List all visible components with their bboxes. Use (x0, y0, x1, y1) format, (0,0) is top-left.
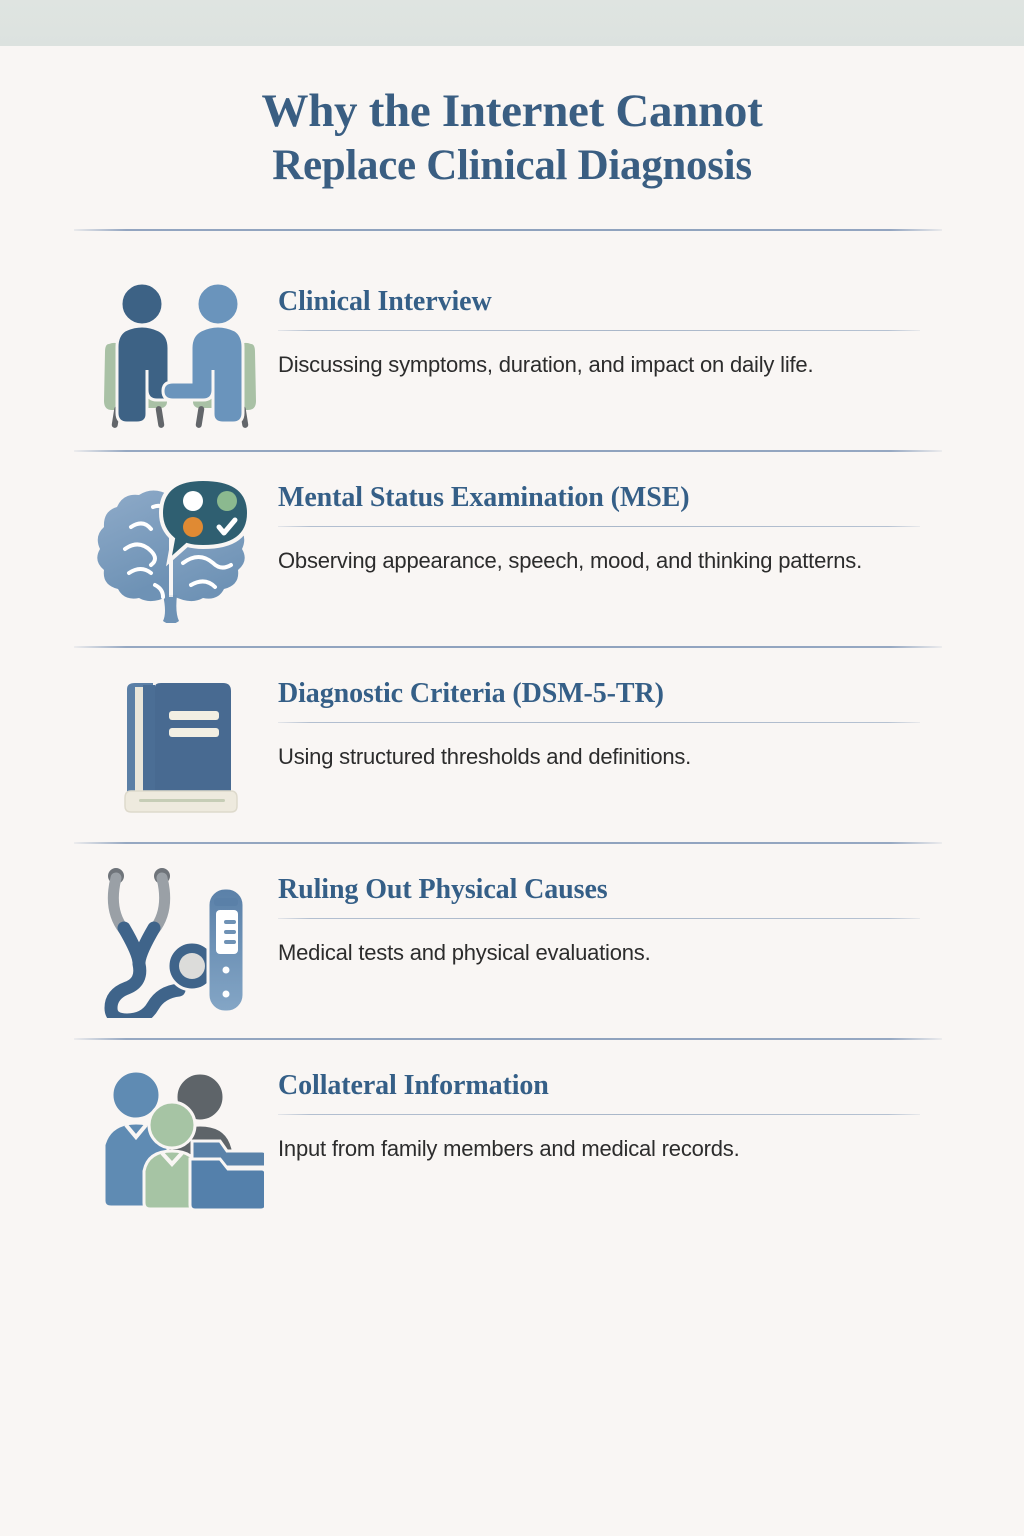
row-heading: Clinical Interview (278, 286, 926, 318)
row-description: Medical tests and physical evaluations. (278, 940, 926, 966)
top-accent-band (0, 0, 1024, 46)
row-text: Clinical Interview Discussing symptoms, … (278, 286, 926, 378)
row-heading: Ruling Out Physical Causes (278, 874, 926, 906)
heading-underline (278, 526, 920, 527)
stethoscope-test-tube-icon (92, 864, 268, 1020)
brain-speech-bubble-icon (92, 472, 268, 628)
two-people-interview-icon (92, 276, 268, 432)
row-description: Using structured thresholds and definiti… (278, 744, 926, 770)
header-divider (74, 229, 942, 231)
family-folder-icon (92, 1060, 268, 1216)
list-item: Mental Status Examination (MSE) Observin… (0, 452, 1024, 648)
title-line-1: Why the Internet Cannot (0, 86, 1024, 137)
row-heading: Diagnostic Criteria (DSM-5-TR) (278, 678, 926, 710)
list-item: Ruling Out Physical Causes Medical tests… (0, 844, 1024, 1040)
heading-underline (278, 722, 920, 723)
heading-underline (278, 1114, 920, 1115)
row-text: Collateral Information Input from family… (278, 1070, 926, 1162)
book-icon (92, 668, 268, 824)
row-text: Diagnostic Criteria (DSM-5-TR) Using str… (278, 678, 926, 770)
row-description: Discussing symptoms, duration, and impac… (278, 352, 926, 378)
row-heading: Collateral Information (278, 1070, 926, 1102)
heading-underline (278, 918, 920, 919)
row-heading: Mental Status Examination (MSE) (278, 482, 926, 514)
row-description: Input from family members and medical re… (278, 1136, 926, 1162)
heading-underline (278, 330, 920, 331)
list-item: Clinical Interview Discussing symptoms, … (0, 256, 1024, 452)
content-rows: Clinical Interview Discussing symptoms, … (0, 256, 1024, 1236)
title-line-2: Replace Clinical Diagnosis (0, 143, 1024, 189)
infographic-page: Why the Internet Cannot Replace Clinical… (0, 0, 1024, 1536)
list-item: Collateral Information Input from family… (0, 1040, 1024, 1236)
row-text: Mental Status Examination (MSE) Observin… (278, 482, 926, 574)
page-title: Why the Internet Cannot Replace Clinical… (0, 86, 1024, 189)
row-text: Ruling Out Physical Causes Medical tests… (278, 874, 926, 966)
row-description: Observing appearance, speech, mood, and … (278, 548, 926, 574)
list-item: Diagnostic Criteria (DSM-5-TR) Using str… (0, 648, 1024, 844)
